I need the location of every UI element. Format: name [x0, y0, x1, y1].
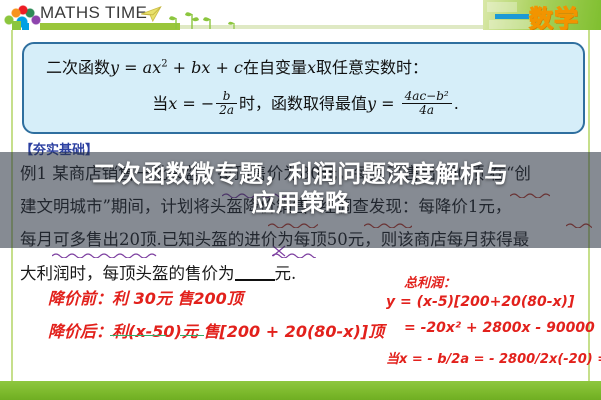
- formula-l1-varx: x: [307, 58, 316, 77]
- header-green-bar: [40, 23, 180, 30]
- handwriting-equation-2: = -20x² + 2800x - 90000: [404, 320, 595, 336]
- formula-l2-period: .: [454, 94, 459, 113]
- answer-blank[interactable]: [235, 265, 275, 281]
- overlay-title-line-1: 二次函数微专题，利润问题深度解析与: [0, 160, 601, 189]
- formula-l1-suffix: 在自变量: [243, 58, 307, 77]
- formula-frac1-den: 2a: [216, 103, 237, 117]
- overlay-title: 二次函数微专题，利润问题深度解析与 应用策略: [0, 160, 601, 218]
- sprouts-icon: [168, 8, 258, 30]
- formula-l1-a: a: [143, 58, 153, 77]
- squiggle-mark-2: [272, 252, 316, 258]
- green-underline-2: [180, 335, 204, 336]
- subject-badge: 数学: [483, 0, 601, 31]
- formula-frac2-num: 4ac−b²: [402, 90, 452, 103]
- formula-l1-plusb: + b: [168, 58, 202, 77]
- brand-title: MATHS TIME: [40, 3, 147, 23]
- formula-l1-tail: 取任意实数时：: [316, 58, 428, 77]
- formula-l2-y: y: [367, 94, 376, 113]
- overlay-title-line-2: 应用策略: [0, 189, 601, 218]
- problem-line-4: 大利润时，每顶头盔的售价为元.: [20, 265, 296, 283]
- handwriting-equation-1: y = (x-5)[200+20(80-x)]: [386, 294, 574, 310]
- formula-l2-eq: = −: [177, 94, 214, 113]
- problem-line-4a: 大利润时，每顶头盔的售价为: [20, 264, 235, 283]
- formula-l2-x: x: [168, 94, 177, 113]
- formula-fraction-b-over-2a: b2a: [216, 90, 237, 116]
- squiggle-mark-1: [52, 252, 164, 258]
- page-footer-bar: [0, 381, 601, 400]
- page-header: MATHS TIME 数学: [0, 0, 601, 31]
- paper-plane-icon: [140, 6, 162, 22]
- formula-l1-plusc: + c: [210, 58, 243, 77]
- formula-l2-mid: 时，函数取得最值: [239, 94, 367, 113]
- formula-l1-y: y: [110, 58, 119, 77]
- handwriting-row-2: 降价后：利(x-50)元 售[200 + 20(80-x)]顶: [48, 318, 384, 342]
- formula-card: 二次函数y = ax2 + bx + c在自变量x取任意实数时： 当x = −b…: [22, 42, 585, 134]
- problem-line-4b: 元.: [275, 264, 297, 283]
- green-underline-1: [110, 335, 166, 336]
- formula-l2-dang: 当: [152, 94, 168, 113]
- formula-l2-eq2: =: [376, 94, 400, 113]
- badge-label: 数学: [529, 0, 579, 31]
- formula-frac2-den: 4a: [402, 103, 452, 117]
- formula-line-2: 当x = −b2a时，函数取得最值y = 4ac−b²4a.: [24, 90, 587, 118]
- formula-l1-prefix: 二次函数: [46, 58, 110, 77]
- formula-line-1: 二次函数y = ax2 + bx + c在自变量x取任意实数时：: [46, 54, 428, 78]
- formula-l1-x: x: [152, 58, 161, 77]
- formula-fraction-vertex: 4ac−b²4a: [402, 90, 452, 116]
- handwriting-total-label: 总利润：: [404, 272, 456, 291]
- badge-dash: [495, 14, 529, 19]
- formula-frac1-num: b: [216, 90, 237, 103]
- handwriting-equation-3: 当x = - b/2a = - 2800/2x(-20) = 70时，利润最大: [386, 348, 601, 367]
- formula-l1-eq: =: [119, 58, 143, 77]
- screenshot-root: MATHS TIME 数学: [0, 0, 601, 400]
- rainbow-arc-logo-icon: [3, 2, 41, 30]
- handwriting-row-1: 降价前：利 30元 售200顶: [48, 285, 243, 309]
